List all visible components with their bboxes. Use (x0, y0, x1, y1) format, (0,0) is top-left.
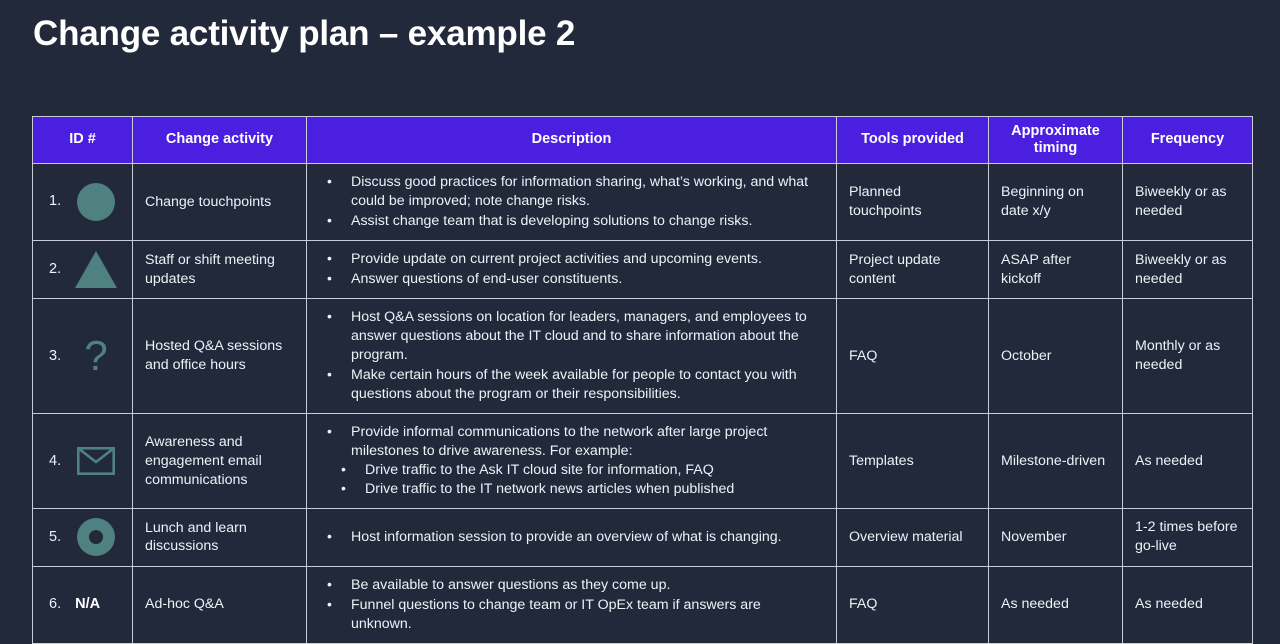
table-row: 2. Staff or shift meeting updates Provid… (33, 241, 1253, 299)
row-frequency-cell: 1-2 times before go-live (1123, 509, 1253, 566)
timing-value: ASAP after kickoff (1001, 251, 1110, 289)
row-timing-cell: November (989, 509, 1123, 566)
slide-root: Change activity plan – example 2 ID # Ch… (0, 0, 1280, 626)
header-id: ID # (33, 117, 133, 164)
table-row: 6. N/A Ad-hoc Q&A Be available to answer… (33, 566, 1253, 643)
row-number: 2. (49, 260, 61, 279)
activity-label: Change touchpoints (145, 193, 294, 212)
row-timing-cell: ASAP after kickoff (989, 241, 1123, 299)
row-tools-cell: Project update content (837, 241, 989, 299)
description-bullet: Discuss good practices for information s… (319, 173, 824, 211)
description-bullet: Be available to answer questions as they… (319, 576, 824, 595)
table-row: 4. Awareness and engagement email commun… (33, 414, 1253, 509)
filled-circle-icon (75, 181, 117, 223)
row-id-cell: 5. (33, 509, 133, 566)
row-activity-cell: Ad-hoc Q&A (133, 566, 307, 643)
timing-value: Milestone-driven (1001, 452, 1110, 471)
header-row: ID # Change activity Description Tools p… (33, 117, 1253, 164)
row-frequency-cell: Biweekly or as needed (1123, 164, 1253, 241)
tools-value: Templates (849, 452, 976, 471)
row-timing-cell: As needed (989, 566, 1123, 643)
frequency-value: Monthly or as needed (1135, 337, 1240, 375)
frequency-value: As needed (1135, 595, 1240, 614)
row-description-cell: Provide update on current project activi… (307, 241, 837, 299)
description-sub-bullet: Drive traffic to the Ask IT cloud site f… (319, 461, 824, 480)
row-tools-cell: Overview material (837, 509, 989, 566)
tools-value: Overview material (849, 528, 976, 547)
row-tools-cell: Templates (837, 414, 989, 509)
table-header: ID # Change activity Description Tools p… (33, 117, 1253, 164)
row-number: 3. (49, 347, 61, 366)
frequency-value: 1-2 times before go-live (1135, 518, 1240, 556)
change-activity-table-container: ID # Change activity Description Tools p… (32, 116, 1252, 644)
row-frequency-cell: As needed (1123, 566, 1253, 643)
row-activity-cell: Hosted Q&A sessions and office hours (133, 299, 307, 414)
page-title: Change activity plan – example 2 (33, 14, 575, 54)
row-description-cell: Discuss good practices for information s… (307, 164, 837, 241)
activity-label: Hosted Q&A sessions and office hours (145, 337, 294, 375)
header-change-activity: Change activity (133, 117, 307, 164)
tools-value: Project update content (849, 251, 976, 289)
row-number: 4. (49, 452, 61, 471)
row-icon-na-label: N/A (75, 595, 100, 614)
row-timing-cell: October (989, 299, 1123, 414)
table-body: 1. Change touchpoints Discuss good pract… (33, 164, 1253, 644)
description-bullet-list: Provide update on current project activi… (319, 250, 824, 289)
table-row: 5. Lunch and learn discussions Host info… (33, 509, 1253, 566)
row-activity-cell: Staff or shift meeting updates (133, 241, 307, 299)
frequency-value: As needed (1135, 452, 1240, 471)
description-bullet: Answer questions of end-user constituent… (319, 270, 824, 289)
row-tools-cell: FAQ (837, 299, 989, 414)
frequency-value: Biweekly or as needed (1135, 183, 1240, 221)
tools-value: FAQ (849, 595, 976, 614)
description-bullet: Provide informal communications to the n… (319, 423, 824, 461)
row-activity-cell: Awareness and engagement email communica… (133, 414, 307, 509)
row-activity-cell: Change touchpoints (133, 164, 307, 241)
description-bullet: Provide update on current project activi… (319, 250, 824, 269)
description-sub-bullet: Drive traffic to the IT network news art… (319, 480, 824, 499)
table-row: 1. Change touchpoints Discuss good pract… (33, 164, 1253, 241)
activity-label: Lunch and learn discussions (145, 519, 294, 557)
table-row: 3. ? Hosted Q&A sessions and office hour… (33, 299, 1253, 414)
row-id-cell: 1. (33, 164, 133, 241)
description-bullet: Make certain hours of the week available… (319, 366, 824, 404)
row-id-cell: 4. (33, 414, 133, 509)
activity-label: Ad-hoc Q&A (145, 595, 294, 614)
description-bullet-list: Discuss good practices for information s… (319, 173, 824, 231)
header-approximate-timing-line1: Approximate (1011, 123, 1100, 139)
question-mark-icon: ? (75, 335, 117, 377)
row-frequency-cell: As needed (1123, 414, 1253, 509)
header-frequency: Frequency (1123, 117, 1253, 164)
header-approximate-timing-line2: timing (1034, 140, 1078, 156)
description-bullet: Host information session to provide an o… (319, 528, 824, 547)
activity-label: Awareness and engagement email communica… (145, 433, 294, 490)
envelope-icon (75, 440, 117, 482)
timing-value: October (1001, 347, 1110, 366)
timing-value: As needed (1001, 595, 1110, 614)
ring-icon (75, 516, 117, 558)
row-frequency-cell: Monthly or as needed (1123, 299, 1253, 414)
description-bullet: Funnel questions to change team or IT Op… (319, 596, 824, 634)
row-timing-cell: Milestone-driven (989, 414, 1123, 509)
description-bullet-list: Host information session to provide an o… (319, 528, 824, 547)
frequency-value: Biweekly or as needed (1135, 251, 1240, 289)
change-activity-plan-table: ID # Change activity Description Tools p… (32, 116, 1253, 644)
row-number: 6. (49, 595, 61, 614)
header-tools-provided: Tools provided (837, 117, 989, 164)
row-number: 5. (49, 528, 61, 547)
header-approximate-timing: Approximate timing (989, 117, 1123, 164)
row-description-cell: Provide informal communications to the n… (307, 414, 837, 509)
filled-triangle-icon (75, 249, 117, 291)
row-id-cell: 3. ? (33, 299, 133, 414)
tools-value: Planned touchpoints (849, 183, 976, 221)
description-bullet-list: Be available to answer questions as they… (319, 576, 824, 634)
activity-label: Staff or shift meeting updates (145, 251, 294, 289)
row-tools-cell: FAQ (837, 566, 989, 643)
description-bullet-list: Provide informal communications to the n… (319, 423, 824, 461)
timing-value: Beginning on date x/y (1001, 183, 1110, 221)
description-bullet: Host Q&A sessions on location for leader… (319, 308, 824, 365)
description-bullet: Assist change team that is developing so… (319, 212, 824, 231)
row-id-cell: 6. N/A (33, 566, 133, 643)
row-frequency-cell: Biweekly or as needed (1123, 241, 1253, 299)
row-timing-cell: Beginning on date x/y (989, 164, 1123, 241)
row-tools-cell: Planned touchpoints (837, 164, 989, 241)
row-id-cell: 2. (33, 241, 133, 299)
row-description-cell: Host information session to provide an o… (307, 509, 837, 566)
description-sub-bullet-list: Drive traffic to the Ask IT cloud site f… (319, 461, 824, 499)
header-description: Description (307, 117, 837, 164)
description-bullet-list: Host Q&A sessions on location for leader… (319, 308, 824, 404)
row-number: 1. (49, 192, 61, 211)
row-activity-cell: Lunch and learn discussions (133, 509, 307, 566)
row-description-cell: Be available to answer questions as they… (307, 566, 837, 643)
row-description-cell: Host Q&A sessions on location for leader… (307, 299, 837, 414)
timing-value: November (1001, 528, 1110, 547)
tools-value: FAQ (849, 347, 976, 366)
